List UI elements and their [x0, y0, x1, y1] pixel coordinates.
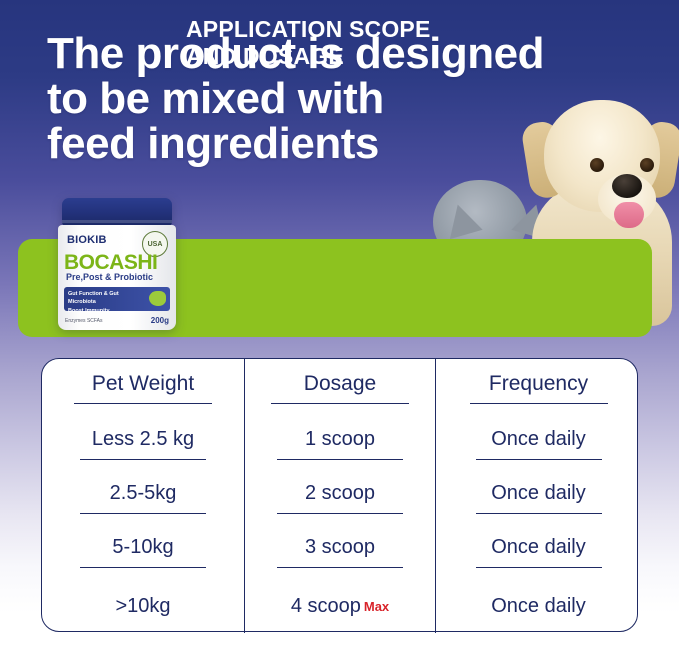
product-infographic: The product is designed to be mixed with…: [0, 0, 679, 645]
product-name: BOCASHI: [64, 252, 170, 273]
cell-dosage: 1 scoop: [245, 417, 436, 471]
net-weight: 200g: [151, 316, 169, 325]
jar-footer: Enzymes SCFAs 200g: [65, 316, 169, 325]
table-row: 5-10kg 3 scoop Once daily: [42, 525, 641, 579]
benefit-line-1: Gut Function & Gut Microbiota: [68, 290, 142, 307]
table-row: >10kg 4 scoopMax Once daily: [42, 579, 641, 633]
dosage-table: Pet Weight Dosage Frequency Less 2.5 kg: [42, 359, 641, 633]
cat-ear-left: [441, 200, 482, 239]
cell-frequency: Once daily: [436, 417, 642, 471]
product-jar: BIOKIB USA BOCASHI Pre,Post & Probiotic …: [58, 198, 176, 330]
banner-line-1: APPLICATION SCOPE: [186, 16, 431, 43]
cell-dosage: 2 scoop: [245, 471, 436, 525]
max-dosage-note: Max: [364, 599, 389, 614]
enzyme-note: Enzymes SCFAs: [65, 318, 103, 324]
headline-line-2: to be mixed with: [47, 77, 607, 122]
jar-label: BIOKIB USA BOCASHI Pre,Post & Probiotic …: [58, 225, 176, 330]
banner-line-2: AND DOSAGE: [186, 43, 431, 70]
dog-tongue: [614, 202, 644, 228]
section-banner-title: APPLICATION SCOPE AND DOSAGE: [186, 16, 431, 69]
cell-pet-weight: 5-10kg: [42, 525, 245, 579]
cell-pet-weight: Less 2.5 kg: [42, 417, 245, 471]
cell-dosage: 3 scoop: [245, 525, 436, 579]
brand-logo: BIOKIB: [67, 234, 107, 246]
dog-eye-right: [640, 158, 654, 172]
gut-icon: [149, 291, 166, 306]
headline-line-3: feed ingredients: [47, 122, 607, 167]
table-header-row: Pet Weight Dosage Frequency: [42, 359, 641, 417]
product-subtitle: Pre,Post & Probiotic: [66, 273, 170, 282]
column-header-dosage: Dosage: [245, 359, 436, 417]
dosage-table-card: Pet Weight Dosage Frequency Less 2.5 kg: [41, 358, 638, 632]
column-header-frequency: Frequency: [436, 359, 642, 417]
table-row: 2.5-5kg 2 scoop Once daily: [42, 471, 641, 525]
column-header-pet-weight: Pet Weight: [42, 359, 245, 417]
cell-pet-weight: 2.5-5kg: [42, 471, 245, 525]
product-benefit-band: Gut Function & Gut Microbiota Boost Immu…: [64, 287, 170, 311]
cell-frequency: Once daily: [436, 525, 642, 579]
benefit-line-2: Boost Immunity: [68, 307, 142, 315]
jar-lid: [62, 198, 172, 226]
cell-frequency: Once daily: [436, 471, 642, 525]
dog-nose: [612, 174, 642, 198]
cell-dosage: 4 scoopMax: [245, 579, 436, 633]
table-row: Less 2.5 kg 1 scoop Once daily: [42, 417, 641, 471]
cell-frequency: Once daily: [436, 579, 642, 633]
product-benefits: Gut Function & Gut Microbiota Boost Immu…: [68, 290, 142, 315]
cell-pet-weight: >10kg: [42, 579, 245, 633]
